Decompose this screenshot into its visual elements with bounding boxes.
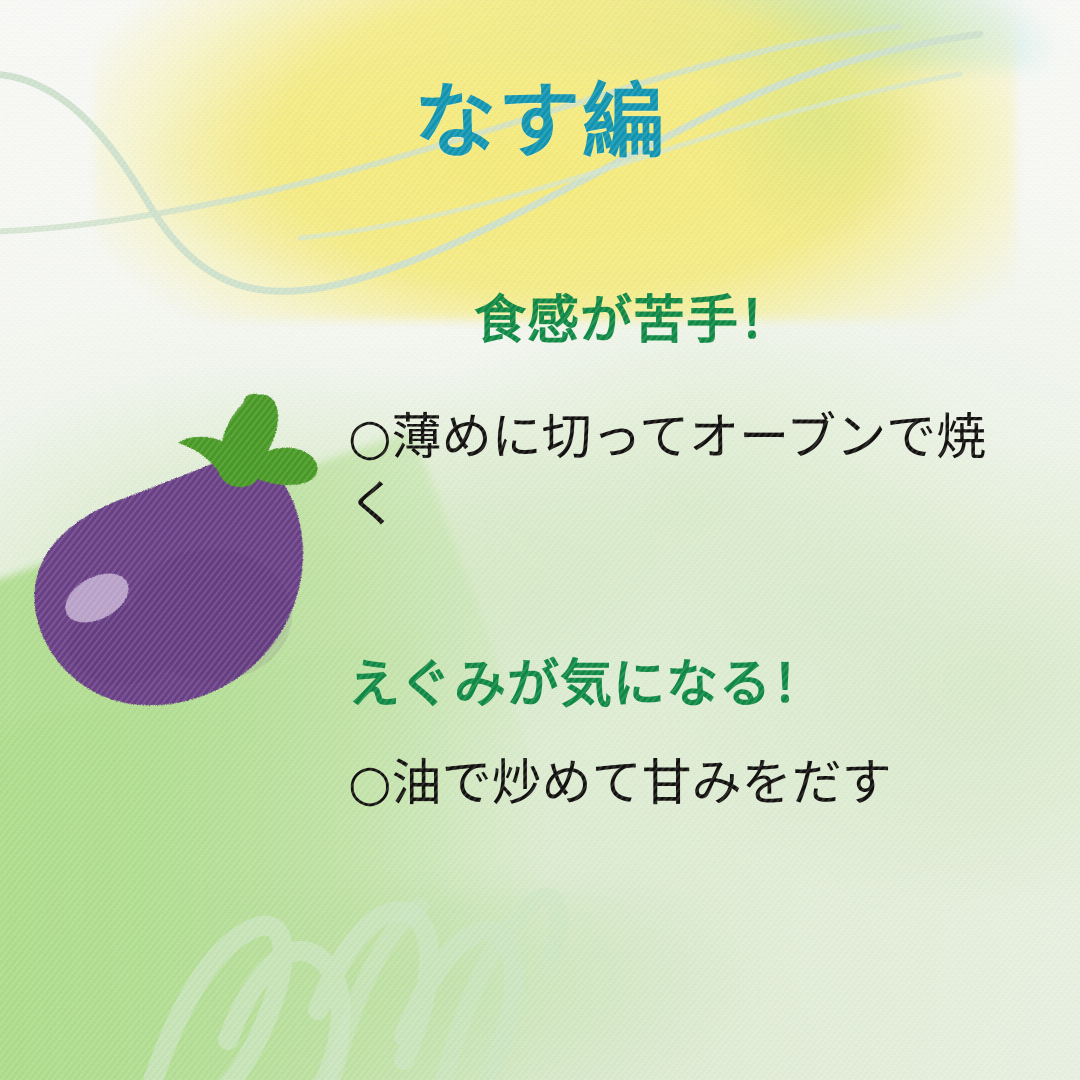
page-title: なす編	[0, 82, 1080, 164]
green-watercolor-wash-bottom	[200, 890, 900, 1080]
poster-canvas: なす編	[0, 0, 1080, 1080]
section-heading-1: 食感が苦手！	[348, 292, 1048, 350]
teal-watercolor-wash-secondary	[640, 0, 970, 90]
section-spacer	[348, 538, 1048, 656]
content-block: 食感が苦手！ ○薄めに切ってオーブンで焼く えぐみが気になる！ ○油で炒めて甘み…	[348, 292, 1048, 817]
teal-watercolor-wash	[430, 0, 1080, 70]
section-item-2: ○油で炒めて甘みをだす	[348, 750, 1028, 817]
section-item-1: ○薄めに切ってオーブンで焼く	[348, 404, 993, 538]
eggplant-illustration	[22, 385, 332, 715]
section-heading-2: えぐみが気になる！	[348, 656, 1048, 714]
